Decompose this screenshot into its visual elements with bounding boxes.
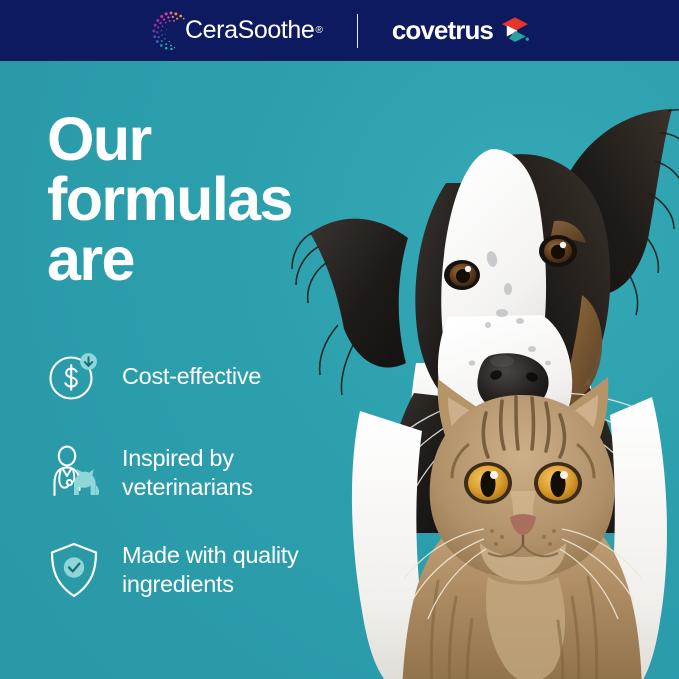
feature-item-made-with-quality-ingredients: Made with quality ingredients (46, 541, 376, 598)
dog-right-eye (539, 235, 577, 267)
headline-line-3: are (47, 230, 347, 290)
ad-banner: CeraSoothe ® covetrus (0, 0, 679, 679)
registered-trademark-icon: ® (315, 25, 322, 36)
cat-right-eye (534, 462, 582, 504)
dog-left-eye (444, 260, 480, 290)
cat-photo (352, 371, 679, 679)
feature-item-inspired-by-veterinarians: Inspired by veterinarians (46, 444, 376, 501)
brand-header-bar: CeraSoothe ® covetrus (0, 0, 679, 61)
feature-label-inspired-by-veterinarians: Inspired by veterinarians (122, 444, 352, 501)
cerasoothe-wordmark: CeraSoothe (185, 16, 314, 45)
shield-check-icon (46, 542, 102, 598)
veterinarian-with-cat-icon (46, 445, 102, 501)
covetrus-logo: covetrus (392, 15, 530, 46)
headline: Our formulas are (47, 110, 347, 289)
brand-divider (357, 14, 358, 48)
headline-line-2: formulas (47, 170, 347, 230)
headline-line-1: Our (47, 110, 347, 170)
feature-label-made-with-quality-ingredients: Made with quality ingredients (122, 541, 352, 598)
feature-label-cost-effective: Cost-effective (122, 362, 261, 391)
feature-item-cost-effective: Cost-effective (46, 348, 376, 404)
covetrus-diamond-icon (500, 16, 530, 46)
dollar-circle-down-arrow-icon (46, 348, 102, 404)
feature-list: Cost-effective (46, 348, 376, 599)
brand-row: CeraSoothe ® covetrus (149, 9, 530, 53)
cerasoothe-logo: CeraSoothe ® (149, 9, 323, 53)
cat-left-eye (464, 462, 512, 504)
covetrus-wordmark: covetrus (392, 15, 493, 46)
